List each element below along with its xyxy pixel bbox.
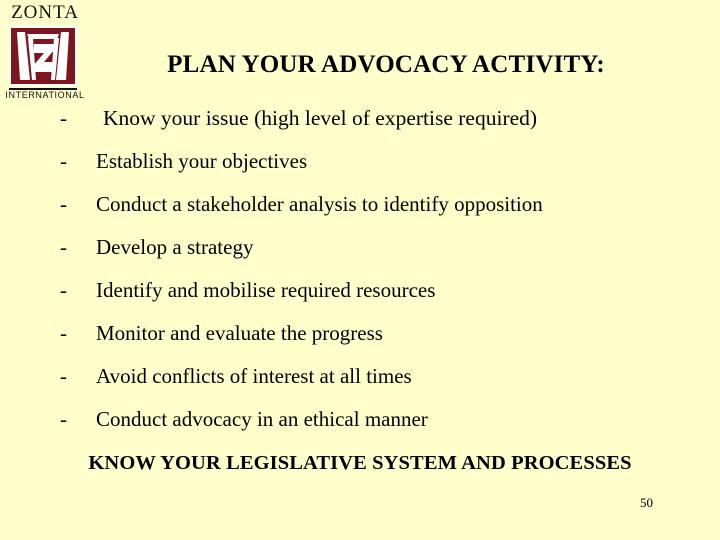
zonta-international-logo: ZONTA INTERNATIONAL bbox=[3, 2, 87, 103]
list-item: - Avoid conflicts of interest at all tim… bbox=[0, 362, 720, 405]
list-item: - Establish your objectives bbox=[0, 147, 720, 190]
zonta-z-emblem-icon bbox=[9, 26, 77, 86]
list-item-label: Know your issue (high level of expertise… bbox=[103, 104, 537, 132]
list-item-label: Conduct advocacy in an ethical manner bbox=[96, 405, 428, 433]
bullet-dash-icon: - bbox=[60, 276, 67, 304]
list-item: - Identify and mobilise required resourc… bbox=[0, 276, 720, 319]
list-item: - Know your issue (high level of experti… bbox=[0, 104, 720, 147]
bullet-dash-icon: - bbox=[60, 233, 67, 261]
bullet-dash-icon: - bbox=[60, 190, 67, 218]
list-item-label: Establish your objectives bbox=[96, 147, 307, 175]
list-item-label: Monitor and evaluate the progress bbox=[96, 319, 383, 347]
bullet-dash-icon: - bbox=[60, 147, 67, 175]
page-number: 50 bbox=[640, 495, 680, 511]
list-item-label: Develop a strategy bbox=[96, 233, 253, 261]
logo-subtitle: INTERNATIONAL bbox=[3, 90, 87, 100]
page-title: PLAN YOUR ADVOCACY ACTIVITY: bbox=[96, 50, 676, 80]
list-item: - Develop a strategy bbox=[0, 233, 720, 276]
bullet-dash-icon: - bbox=[60, 362, 67, 390]
footer-heading: KNOW YOUR LEGISLATIVE SYSTEM AND PROCESS… bbox=[0, 450, 720, 476]
bullet-dash-icon: - bbox=[60, 405, 67, 433]
slide-canvas: ZONTA INTERNATIONAL PLAN YOUR ADVOCACY bbox=[0, 0, 720, 540]
list-item: - Conduct a stakeholder analysis to iden… bbox=[0, 190, 720, 233]
bullet-dash-icon: - bbox=[60, 104, 67, 132]
list-item: - Conduct advocacy in an ethical manner bbox=[0, 405, 720, 448]
bullet-dash-icon: - bbox=[60, 319, 67, 347]
advocacy-steps-list: - Know your issue (high level of experti… bbox=[0, 104, 720, 448]
list-item-label: Conduct a stakeholder analysis to identi… bbox=[96, 190, 543, 218]
list-item-label: Avoid conflicts of interest at all times bbox=[96, 362, 412, 390]
logo-wordmark: ZONTA bbox=[3, 2, 87, 24]
list-item: - Monitor and evaluate the progress bbox=[0, 319, 720, 362]
list-item-label: Identify and mobilise required resources bbox=[96, 276, 435, 304]
